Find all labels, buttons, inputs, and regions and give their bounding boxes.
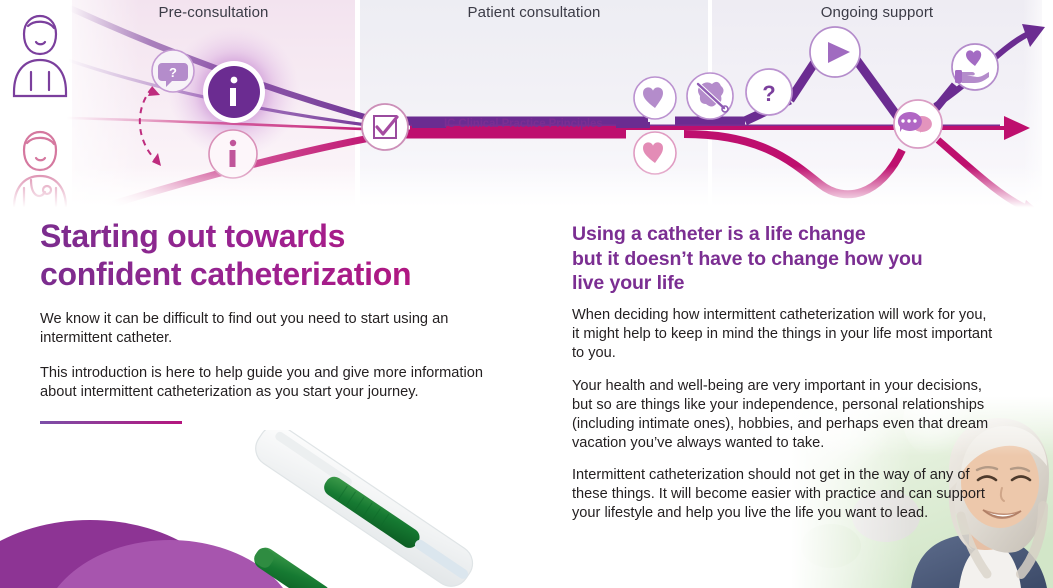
left-content-column: Starting out towardsconfident catheteriz… (40, 218, 510, 424)
left-paragraph-2: This introduction is here to help guide … (40, 364, 510, 403)
journey-bottom-fade (0, 166, 1053, 212)
subhead-line-3: live your life (572, 272, 684, 294)
page-root: Pre-consultation Patient consultation On… (0, 0, 1053, 588)
right-content-column: Using a catheter is a life changebut it … (572, 222, 996, 537)
ic-clinical-practice-principles-label: IC Clinical Practice Principles (444, 118, 603, 130)
section-subtitle: Using a catheter is a life changebut it … (572, 222, 996, 296)
question-bubble-icon: ? (152, 50, 194, 92)
question-mark-icon: ? (746, 69, 792, 115)
checkbox-tick-icon (362, 104, 408, 150)
information-badge-icon (203, 61, 265, 123)
right-paragraph-2: Your health and well-being are very impo… (572, 377, 996, 453)
right-paragraph-3: Intermittent catheterization should not … (572, 466, 996, 523)
heart-purple-icon (634, 77, 676, 119)
patient-journey-diagram: Pre-consultation Patient consultation On… (0, 0, 1053, 212)
section-divider (40, 421, 182, 424)
no-infection-icon (687, 73, 733, 119)
subhead-line-2: but it doesn’t have to change how you (572, 248, 923, 270)
headline-line-2: confident catheterization (40, 256, 411, 292)
left-paragraph-1: We know it can be difficult to find out … (40, 310, 510, 349)
play-video-icon (810, 27, 860, 77)
right-paragraph-1: When deciding how intermittent catheteri… (572, 306, 996, 363)
subhead-line-1: Using a catheter is a life change (572, 223, 866, 245)
headline-line-1: Starting out towards (40, 218, 345, 254)
patient-figure-icon (14, 16, 66, 96)
svg-text:?: ? (169, 65, 177, 80)
svg-text:?: ? (762, 81, 775, 106)
catheter-product-photo (200, 430, 530, 588)
hand-heart-care-icon (952, 44, 998, 90)
page-title: Starting out towardsconfident catheteriz… (40, 218, 510, 294)
chat-bubbles-icon (894, 100, 942, 148)
